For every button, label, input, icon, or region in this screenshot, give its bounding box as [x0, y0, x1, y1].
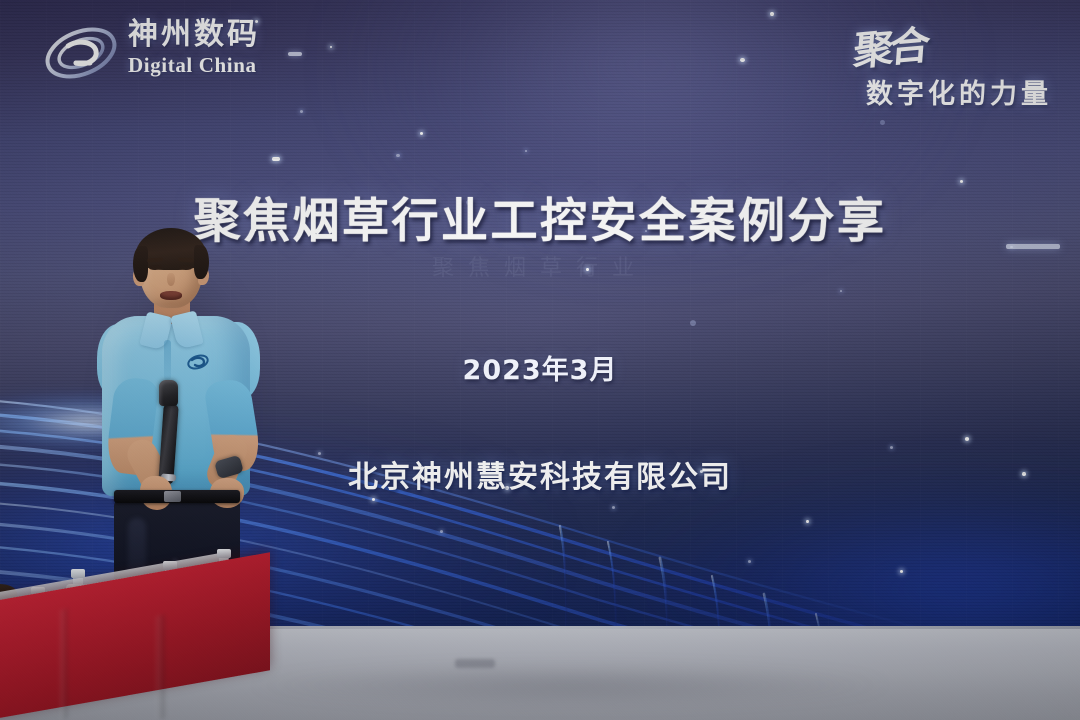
stage-floor-shadow [250, 664, 890, 706]
digital-china-swirl-logo-icon [42, 22, 120, 84]
event-slogan: 聚合 数字化的力量 [796, 16, 1058, 116]
microphone-head-icon [159, 380, 178, 406]
foreground-table [0, 570, 270, 720]
speaker-mouth [160, 291, 182, 300]
brand-name-cn: 神州数码 [128, 18, 260, 52]
brand-name-en: Digital China [128, 53, 260, 77]
tablecloth-fold [156, 614, 165, 720]
decor-dash-mark [288, 52, 302, 56]
speaker-nose [167, 273, 175, 286]
conference-photo: 聚焦烟草行业 聚焦烟草行业工控安全案例分享 2023年3月 北京神州慧安科技有限… [0, 0, 1080, 720]
tablecloth-fold [60, 609, 68, 720]
speaker-shirt-placket [164, 340, 171, 380]
slogan-subtitle: 数字化的力量 [866, 72, 1052, 111]
brand-text: 神州数码 Digital China [128, 18, 260, 77]
speaker-belt-buckle [164, 491, 181, 502]
speaker-hair-side-left [133, 246, 148, 282]
red-tablecloth [0, 552, 270, 720]
bottle-cap [71, 569, 85, 578]
slogan-calligraphy: 聚合 [852, 13, 929, 77]
speaker-hair-side-right [194, 245, 209, 279]
stage-floor-mark [455, 659, 495, 668]
speaker-shirt-logo-icon [186, 352, 210, 372]
particle [300, 110, 303, 113]
bottle-cap [217, 549, 231, 558]
particle [840, 290, 842, 292]
brand-logo: 神州数码 Digital China [42, 18, 292, 90]
particle [272, 157, 280, 161]
decor-dash-mark-right [1006, 244, 1060, 249]
